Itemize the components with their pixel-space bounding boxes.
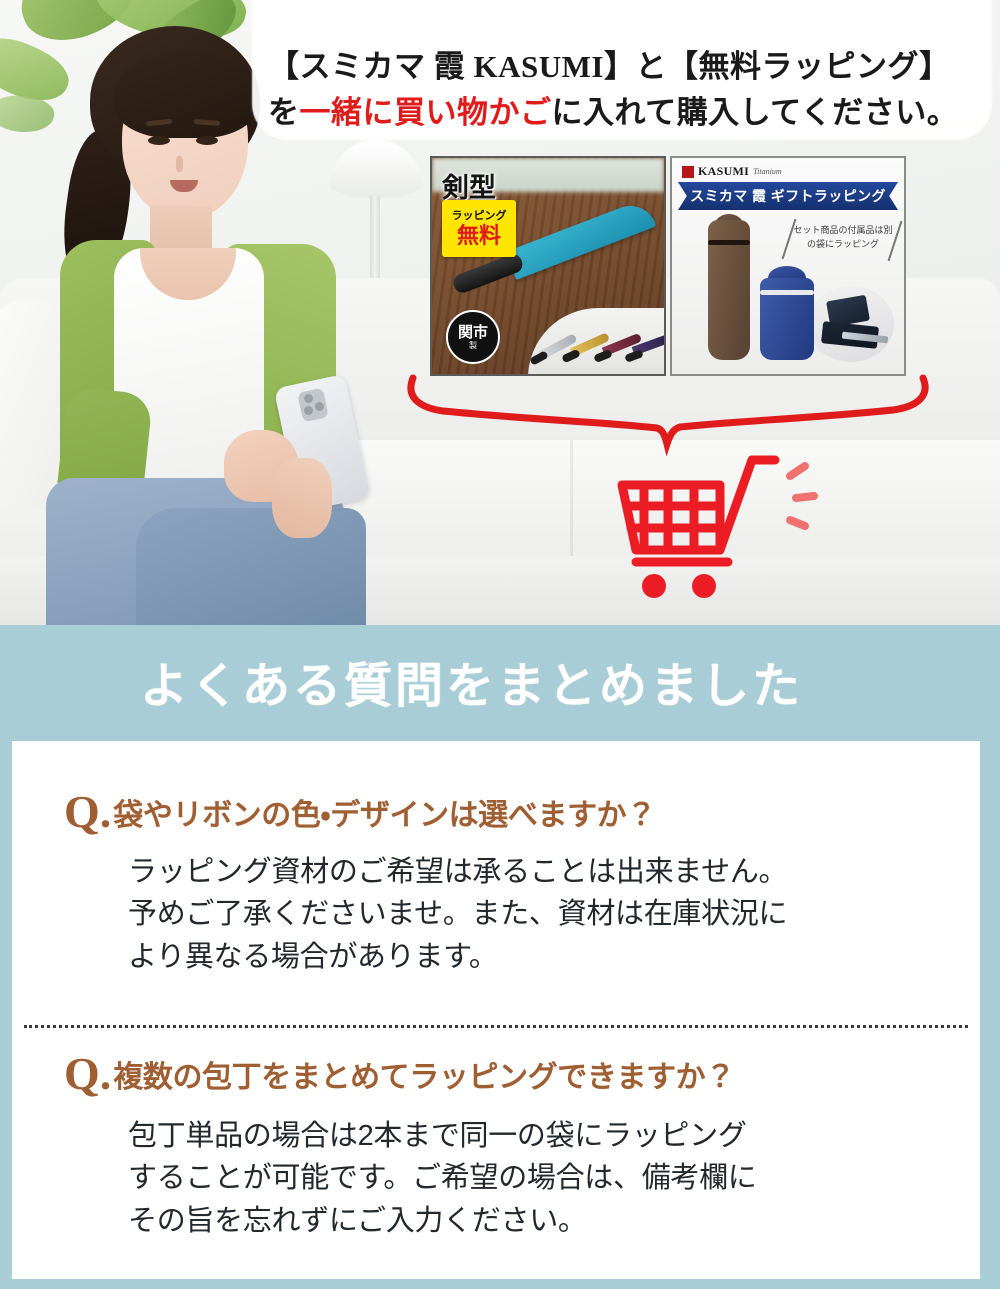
product-card-giftwrap[interactable]: KASUMI Titanium スミカマ 霞 ギフトラッピング セット商品の付属… — [670, 156, 906, 376]
kasumi-logo: KASUMI Titanium — [682, 164, 782, 179]
brand-name: KASUMI — [698, 164, 749, 179]
variant-handle — [561, 349, 581, 364]
product-card-knife[interactable]: 剣型 ラッピング 無料 関市 製 — [430, 156, 666, 376]
faq-answer-2: 包丁単品の場合は2本まで同一の袋にラッピング することが可能です。ご希望の場合は… — [128, 1115, 1000, 1242]
faq-question-2-text: 複数の包丁をまとめてラッピングできますか？ — [113, 1051, 735, 1097]
faq-answer-line: より異なる場合があります。 — [128, 936, 1000, 978]
hero-headline: 【スミカマ 霞 KASUMI】と【無料ラッピング】 を一緒に買い物かごに入れて購… — [268, 44, 988, 136]
variant-handle — [593, 349, 613, 363]
faq-question-1[interactable]: Q. 袋やリボンの色・デザインは選べますか？ — [64, 789, 964, 835]
faq-question-2[interactable]: Q. 複数の包丁をまとめてラッピングできますか？ — [64, 1051, 984, 1097]
faq-answer-line: することが可能です。ご希望の場合は、備考欄に — [128, 1157, 1000, 1199]
q-mark-icon: Q. — [64, 1051, 111, 1097]
badge-free-label: 無料 — [457, 225, 501, 247]
seki-city-seal: 関市 製 — [446, 310, 500, 364]
faq-answer-line: ラッピング資材のご希望は承ることは出来ません。 — [128, 851, 1000, 893]
camera-lens — [304, 394, 313, 403]
giftwrap-note: セット商品の付属品は別の袋にラッピング — [792, 224, 894, 251]
faq-answer-line: 包丁単品の場合は2本まで同一の袋にラッピング — [128, 1115, 1000, 1157]
hand-right — [272, 458, 332, 538]
giftwrap-ribbon-banner: スミカマ 霞 ギフトラッピング — [678, 182, 898, 210]
faq-answer-line: その旨を忘れずにご入力ください。 — [128, 1200, 1000, 1242]
hair-front — [114, 52, 258, 138]
blue-bag-ribbon-tie — [760, 290, 814, 295]
variant-handle — [529, 350, 549, 366]
faq-answer-line: 予めご了承くださいませ。また、資材は在庫状況に — [128, 893, 1000, 935]
headline-line2-prefix: を — [268, 95, 300, 130]
variant-handle — [624, 349, 644, 363]
ribbon-label: スミカマ 霞 ギフトラッピング — [690, 186, 886, 206]
jeans-leg — [136, 508, 366, 625]
seal-city: 関市 — [458, 325, 488, 340]
lamp-stem — [370, 196, 380, 282]
seal-made: 製 — [469, 342, 477, 350]
eye-right — [196, 136, 218, 145]
brand-subtitle: Titanium — [753, 167, 781, 176]
headline-line-1: 【スミカマ 霞 KASUMI】と【無料ラッピング】 — [268, 49, 950, 84]
shopping-cart-icon — [600, 440, 825, 615]
logo-square-icon — [682, 166, 694, 178]
nose — [176, 156, 183, 172]
faq-answer-1: ラッピング資材のご希望は承ることは出来ません。 予めご了承くださいませ。また、資… — [128, 851, 1000, 978]
faq-section: よくある質問をまとめました Q. 袋やリボンの色・デザインは選べますか？ ラッピ… — [0, 625, 1000, 1289]
headline-highlight: 一緒に買い物かご — [300, 95, 552, 130]
free-wrapping-badge: ラッピング 無料 — [442, 200, 516, 257]
faq-question-1-text: 袋やリボンの色・デザインは選べますか？ — [113, 789, 656, 835]
faq-title: よくある質問をまとめました — [140, 646, 803, 716]
headline-line-2: を一緒に買い物かごに入れて購入してください。 — [268, 90, 988, 136]
headline-line2-suffix: に入れて購入してください。 — [552, 95, 959, 130]
faq-divider — [24, 1025, 968, 1028]
badge-wrapping-label: ラッピング — [452, 211, 507, 222]
camera-lens — [304, 406, 313, 415]
brown-bag-ribbon-tie — [708, 240, 750, 245]
eye-left — [148, 136, 170, 145]
hero-section: 【スミカマ 霞 KASUMI】と【無料ラッピング】 を一緒に買い物かごに入れて購… — [0, 0, 1000, 625]
faq-card: Q. 袋やリボンの色・デザインは選べますか？ ラッピング資材のご希望は承ることは… — [12, 741, 980, 1279]
q-mark-icon: Q. — [64, 789, 111, 835]
camera-lens — [315, 402, 324, 411]
promo-page: 【スミカマ 霞 KASUMI】と【無料ラッピング】 を一緒に買い物かごに入れて購… — [0, 0, 1000, 1289]
